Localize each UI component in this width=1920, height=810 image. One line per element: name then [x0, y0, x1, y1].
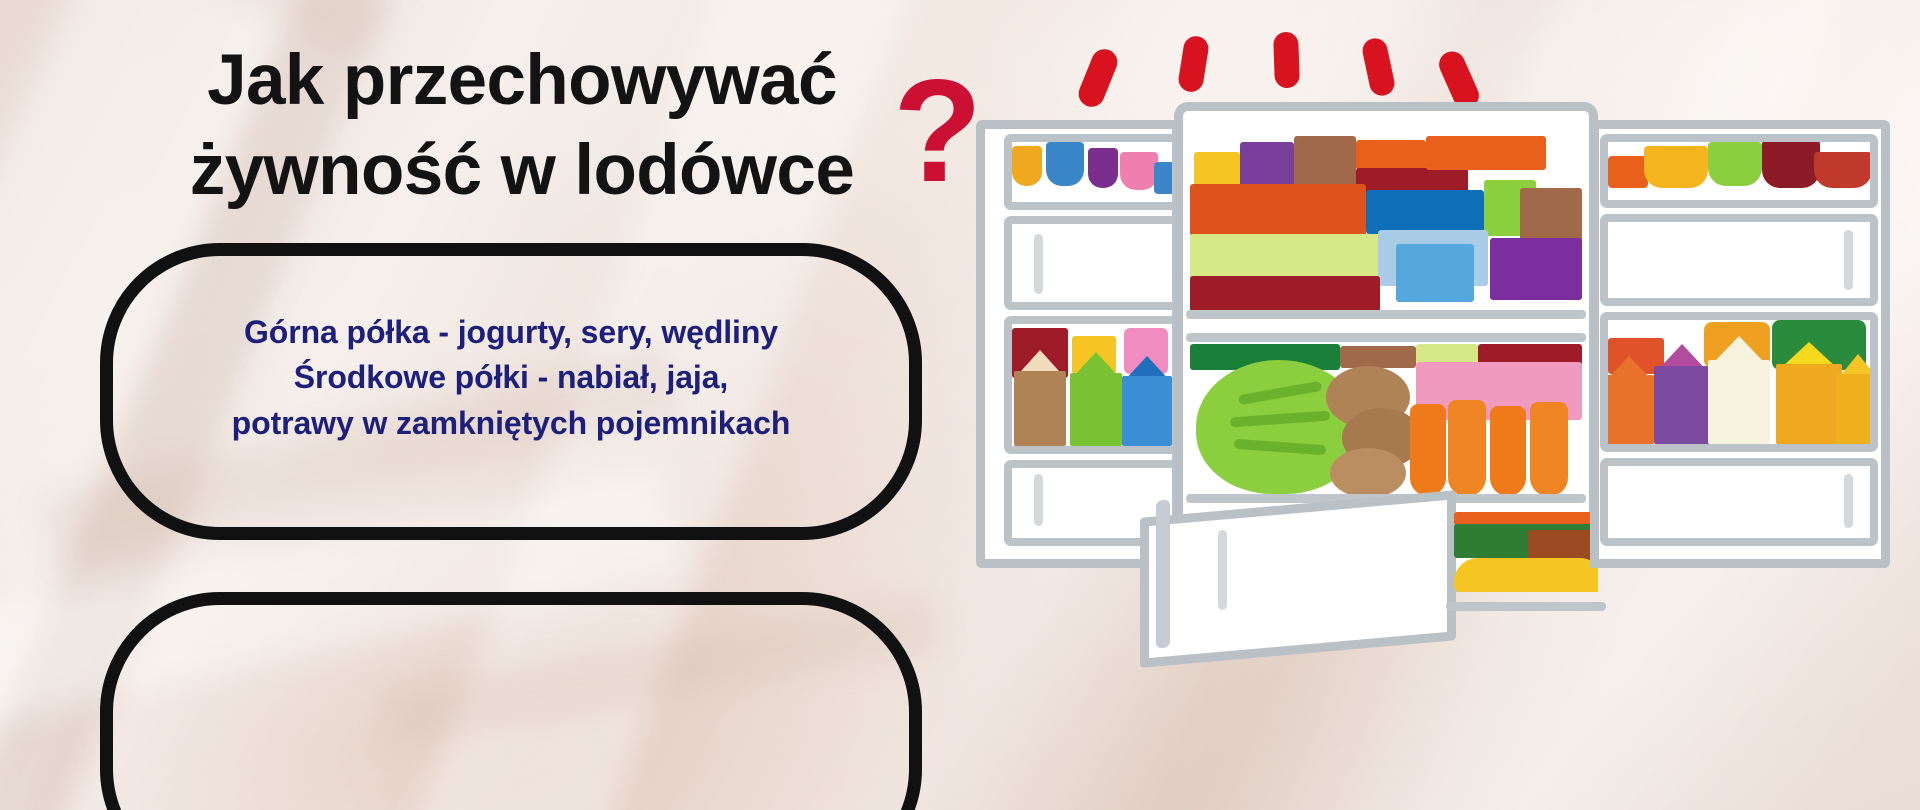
info-line-2: Środkowe półki - nabiał, jaja,: [141, 355, 881, 400]
carton-icon: [1654, 344, 1710, 444]
fridge-right-door-handle-1: [1844, 230, 1853, 290]
fridge-left-door-shelf-2: [1004, 216, 1180, 310]
food-item: [1454, 558, 1598, 592]
fridge-right-door-shelf-1-contents: [1608, 142, 1870, 198]
food-item: [1340, 346, 1416, 368]
carton-icon: [1708, 336, 1770, 444]
food-item: [1490, 238, 1582, 300]
food-item: [1088, 148, 1118, 188]
food-item: [1190, 234, 1380, 280]
food-item: [1644, 146, 1708, 188]
food-item: [1240, 142, 1294, 188]
food-item: [1154, 162, 1172, 194]
food-item: [1012, 146, 1042, 186]
food-item: [1294, 136, 1356, 188]
fridge-left-door-shelf-3-contents: [1012, 324, 1172, 446]
food-item: [1814, 152, 1870, 188]
fridge-right-door-shelf-3-contents: [1608, 320, 1870, 444]
fridge-left-door-shelf-1-contents: [1012, 142, 1172, 200]
food-item: [1426, 136, 1546, 170]
fridge-bottom-drawer: [1140, 490, 1456, 668]
fridge-left-door-handle-2: [1034, 474, 1043, 526]
fridge-shelf-lower-contents: [1190, 344, 1582, 494]
fridge-drawer-contents: [1454, 512, 1598, 608]
carton-icon: [1776, 342, 1842, 444]
speed-line-icon-3: [1273, 32, 1300, 89]
info-box-top-shelf: Górna półka - jogurty, sery, wędliny Śro…: [100, 243, 922, 540]
food-item: [1366, 190, 1484, 234]
info-line-1: Górna półka - jogurty, sery, wędliny: [141, 310, 881, 355]
poster-canvas: Jak przechowywać żywność w lodówce ? Gór…: [0, 0, 1920, 810]
page-title-line-2: żywność w lodówce: [152, 126, 892, 216]
carton-icon: [1014, 350, 1066, 446]
food-item: [1416, 344, 1478, 364]
carrot-icon: [1530, 402, 1568, 494]
food-item: [1608, 156, 1648, 188]
fridge-shelf-divider-1: [1186, 310, 1586, 319]
carrot-icon: [1410, 404, 1446, 494]
fridge-right-door-shelf-4: [1600, 458, 1878, 546]
food-item: [1046, 142, 1084, 186]
info-box-second: [100, 592, 922, 810]
food-item: [1120, 152, 1158, 190]
fridge-shelf-gap-1: [1186, 319, 1586, 333]
info-line-3: potrawy w zamkniętych pojemnikach: [141, 401, 881, 446]
food-item: [1194, 152, 1240, 186]
food-item: [1762, 142, 1820, 188]
fridge-shelf-upper-contents: [1190, 134, 1582, 314]
refrigerator-illustration: [960, 96, 1920, 676]
carrot-icon: [1490, 406, 1526, 494]
food-item: [1708, 142, 1762, 186]
page-title-line-1: Jak przechowywać: [207, 41, 837, 120]
potato-icon: [1330, 448, 1406, 494]
food-item: [1356, 140, 1426, 170]
fridge-drawer-base-shelf: [1446, 602, 1606, 611]
food-item: [1190, 276, 1380, 312]
fridge-drawer-lip: [1156, 499, 1170, 648]
fridge-right-door-shelf-2: [1600, 214, 1878, 306]
food-item: [1190, 184, 1366, 236]
info-box-top-shelf-text: Górna półka - jogurty, sery, wędliny Śro…: [113, 310, 909, 446]
fridge-shelf-divider-2: [1186, 333, 1586, 342]
food-item: [1396, 244, 1474, 302]
carton-icon: [1608, 356, 1654, 444]
page-title: Jak przechowywać żywność w lodówce: [152, 36, 892, 216]
carton-icon: [1122, 356, 1172, 446]
fridge-left-door-handle-1: [1034, 234, 1043, 294]
carton-icon: [1836, 354, 1870, 444]
carton-icon: [1070, 352, 1122, 446]
carrot-icon: [1448, 400, 1486, 494]
fridge-bottom-drawer-handle: [1218, 530, 1227, 610]
fridge-right-door-handle-2: [1844, 474, 1853, 528]
